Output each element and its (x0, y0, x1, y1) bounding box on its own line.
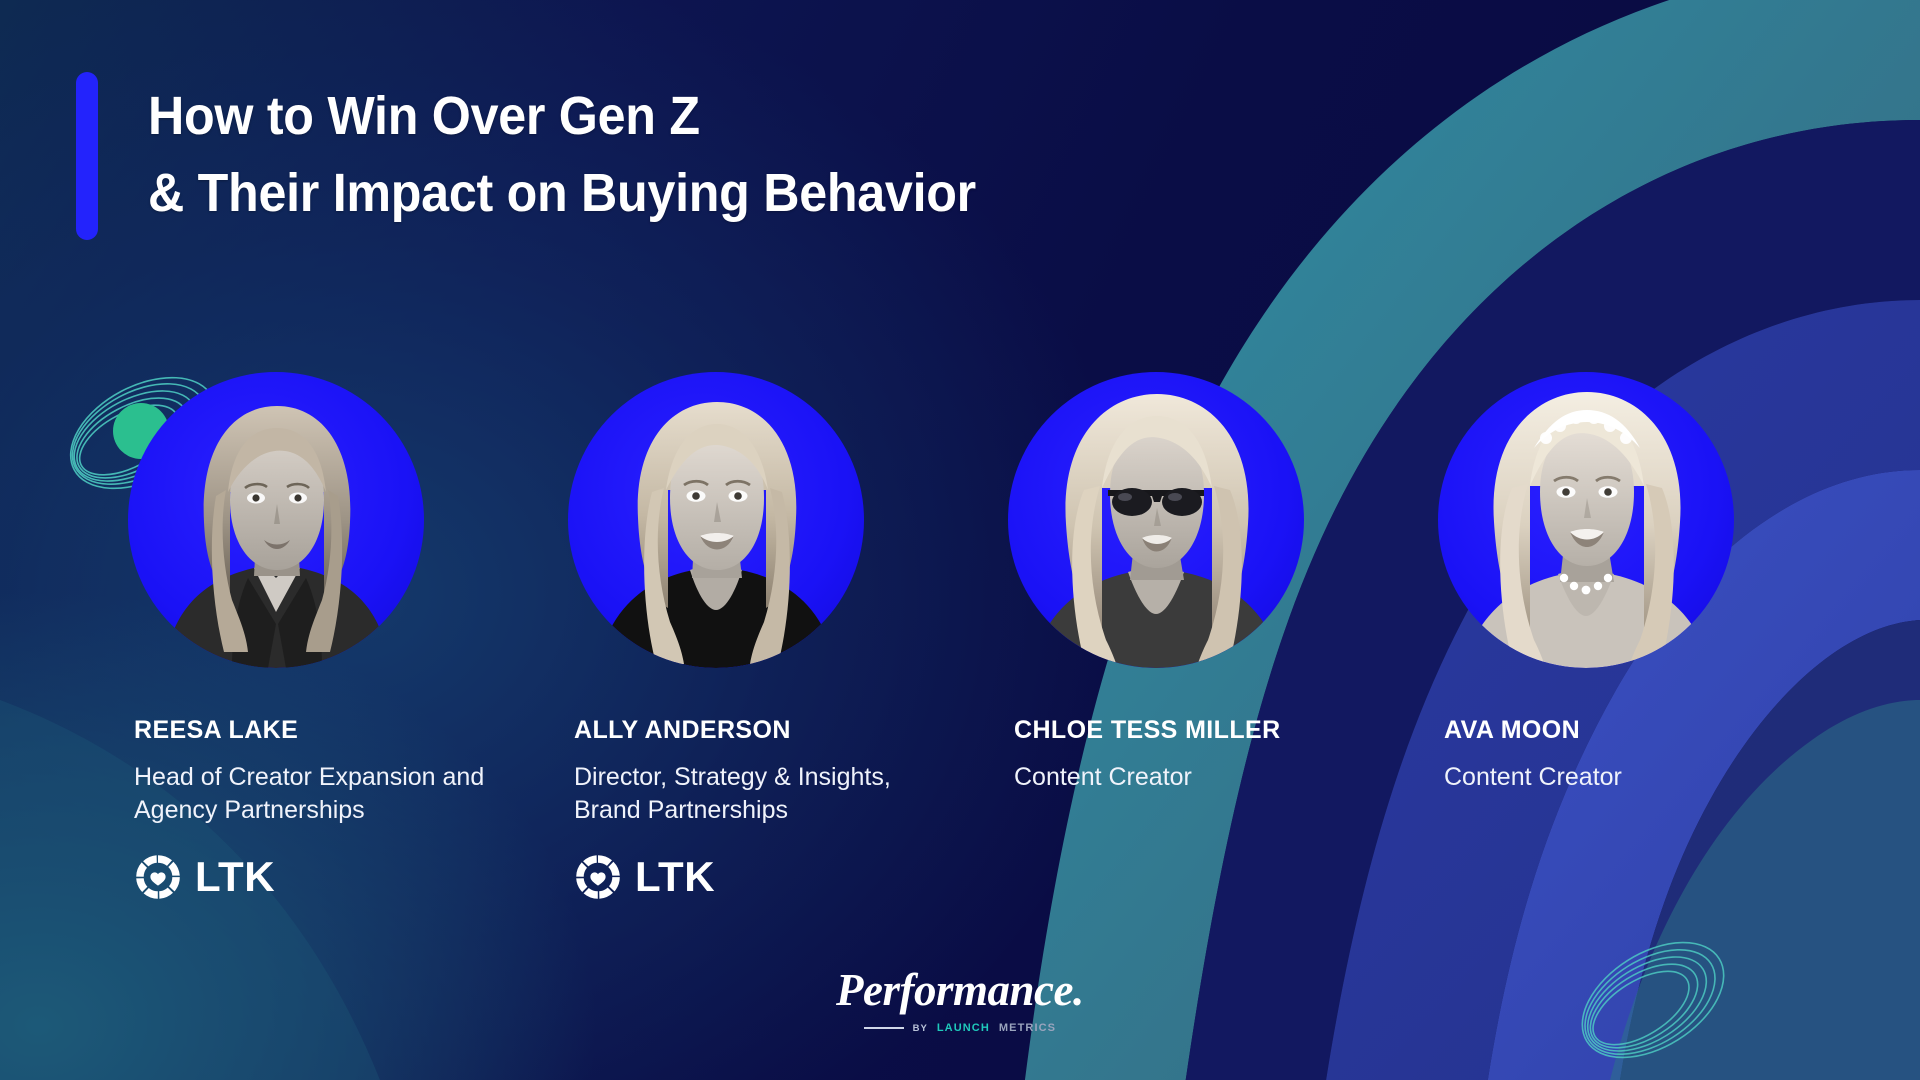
ltk-logo: LTK (134, 853, 536, 901)
speaker-role: Head of Creator Expansion and Agency Par… (134, 761, 494, 827)
speaker-name: AVA MOON (1444, 716, 1846, 745)
speaker-name: ALLY ANDERSON (574, 716, 976, 745)
speaker-name: REESA LAKE (134, 716, 536, 745)
page-title: How to Win Over Gen Z & Their Impact on … (148, 78, 1218, 231)
avatar (128, 372, 424, 668)
byline-rule (864, 1027, 904, 1029)
performance-byline: BY LAUNCH METRICS (836, 1022, 1084, 1034)
speaker-card: CHLOE TESS MILLER Content Creator (976, 372, 1406, 901)
speaker-role: Content Creator (1444, 761, 1804, 794)
avatar-circle-background (568, 372, 864, 668)
performance-wordmark: Performance. (836, 968, 1084, 1013)
ltk-wordmark: LTK (635, 856, 715, 898)
avatar (1008, 372, 1304, 668)
speaker-list: REESA LAKE Head of Creator Expansion and… (0, 372, 1920, 901)
avatar-circle-background (128, 372, 424, 668)
avatar (568, 372, 864, 668)
decorative-rings-icon-2 (1558, 930, 1748, 1070)
byline-by: BY (913, 1023, 928, 1034)
byline-metrics: METRICS (999, 1022, 1056, 1034)
performance-logo: Performance. BY LAUNCH METRICS (836, 968, 1084, 1034)
title-line-1: How to Win Over Gen Z (148, 78, 1218, 155)
title-accent-bar (76, 72, 98, 240)
ltk-mark-icon (134, 853, 182, 901)
portrait-chloe-tess-miller-icon (1008, 372, 1304, 668)
portrait-ava-moon-icon (1438, 372, 1734, 668)
speaker-role: Content Creator (1014, 761, 1374, 794)
ltk-wordmark: LTK (195, 856, 275, 898)
title-line-2: & Their Impact on Buying Behavior (148, 155, 1218, 232)
avatar (1438, 372, 1734, 668)
speaker-role: Director, Strategy & Insights, Brand Par… (574, 761, 934, 827)
byline-launch: LAUNCH (937, 1022, 990, 1034)
ltk-mark-icon (574, 853, 622, 901)
speaker-card: REESA LAKE Head of Creator Expansion and… (96, 372, 536, 901)
webinar-title-slide: How to Win Over Gen Z & Their Impact on … (0, 0, 1920, 1080)
speaker-card: ALLY ANDERSON Director, Strategy & Insig… (536, 372, 976, 901)
speaker-card: AVA MOON Content Creator (1406, 372, 1846, 901)
speaker-name: CHLOE TESS MILLER (1014, 716, 1406, 745)
avatar-circle-background (1438, 372, 1734, 668)
avatar-circle-background (1008, 372, 1304, 668)
portrait-reesa-lake-icon (128, 372, 424, 668)
ltk-logo: LTK (574, 853, 976, 901)
portrait-ally-anderson-icon (568, 372, 864, 668)
